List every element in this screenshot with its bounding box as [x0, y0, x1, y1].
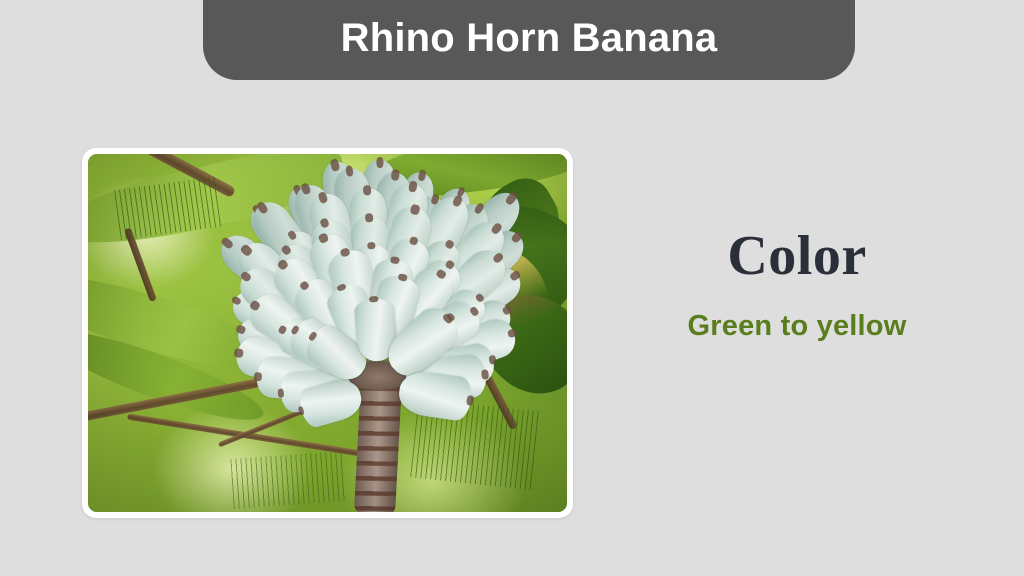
info-block: Color Green to yellow — [596, 228, 998, 343]
info-heading: Color — [596, 228, 998, 285]
banana-photo — [88, 154, 567, 512]
stem-rings — [354, 371, 402, 512]
photo-card — [82, 148, 573, 518]
info-subheading: Green to yellow — [596, 311, 998, 343]
title-banner: Rhino Horn Banana — [203, 0, 855, 80]
banana-finger — [396, 368, 474, 422]
banana-bunch — [150, 154, 514, 462]
banana-stem-rachis — [354, 371, 402, 512]
page-title: Rhino Horn Banana — [341, 18, 718, 58]
